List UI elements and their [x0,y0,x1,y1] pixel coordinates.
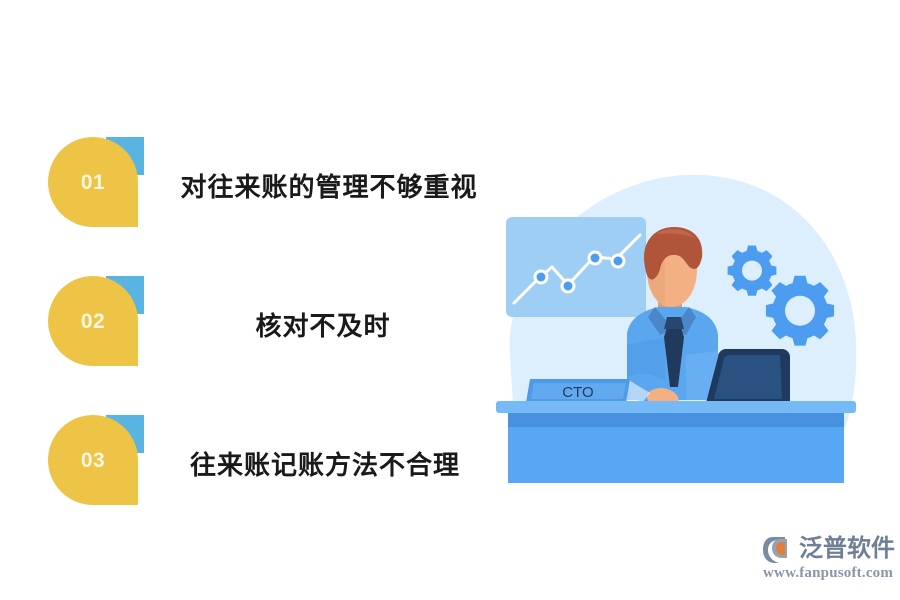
badge-number: 03 [81,450,105,471]
watermark: 泛普软件 www.fanpusoft.com [763,533,895,593]
chart-point [589,252,601,264]
badge-shape: 02 [48,276,138,366]
laptop-screen-gloss [714,355,782,399]
list-item[interactable]: 03 往来账记账方法不合理 [0,415,520,511]
number-badge: 03 [48,415,144,511]
chart-board [506,217,646,317]
nameplate: CTO [526,379,630,403]
tie-knot [664,317,684,329]
nameplate-label: CTO [562,384,593,401]
badge-number: 01 [81,172,105,193]
badge-number: 02 [81,311,105,332]
list-item[interactable]: 02 核对不及时 [0,276,520,372]
number-badge: 02 [48,276,144,372]
desk-top [496,401,856,413]
list-item-label: 核对不及时 [144,306,520,343]
badge-shape: 03 [48,415,138,505]
desk [496,401,856,483]
laptop [706,349,790,403]
desk-band [508,413,844,429]
gear-large-icon [766,276,834,346]
number-badge: 01 [48,137,144,233]
slide-canvas: 01 对往来账的管理不够重视 02 核对不及时 03 往来账记账方法不合理 [0,0,900,600]
badge-shape: 01 [48,137,138,227]
list-item-label: 对往来账的管理不够重视 [144,167,520,204]
fanpu-logo-icon [763,535,797,565]
chart-point [612,255,624,267]
numbered-list: 01 对往来账的管理不够重视 02 核对不及时 03 往来账记账方法不合理 [0,0,520,600]
desk-front [508,427,844,483]
list-item[interactable]: 01 对往来账的管理不够重视 [0,137,520,233]
chart-point [562,280,574,292]
illustration: CTO [490,155,870,485]
list-item-label: 往来账记账方法不合理 [144,445,520,482]
gear-small-icon [728,246,777,296]
watermark-url: www.fanpusoft.com [763,565,893,582]
chart-point [535,271,547,283]
watermark-brand: 泛普软件 [799,535,895,563]
